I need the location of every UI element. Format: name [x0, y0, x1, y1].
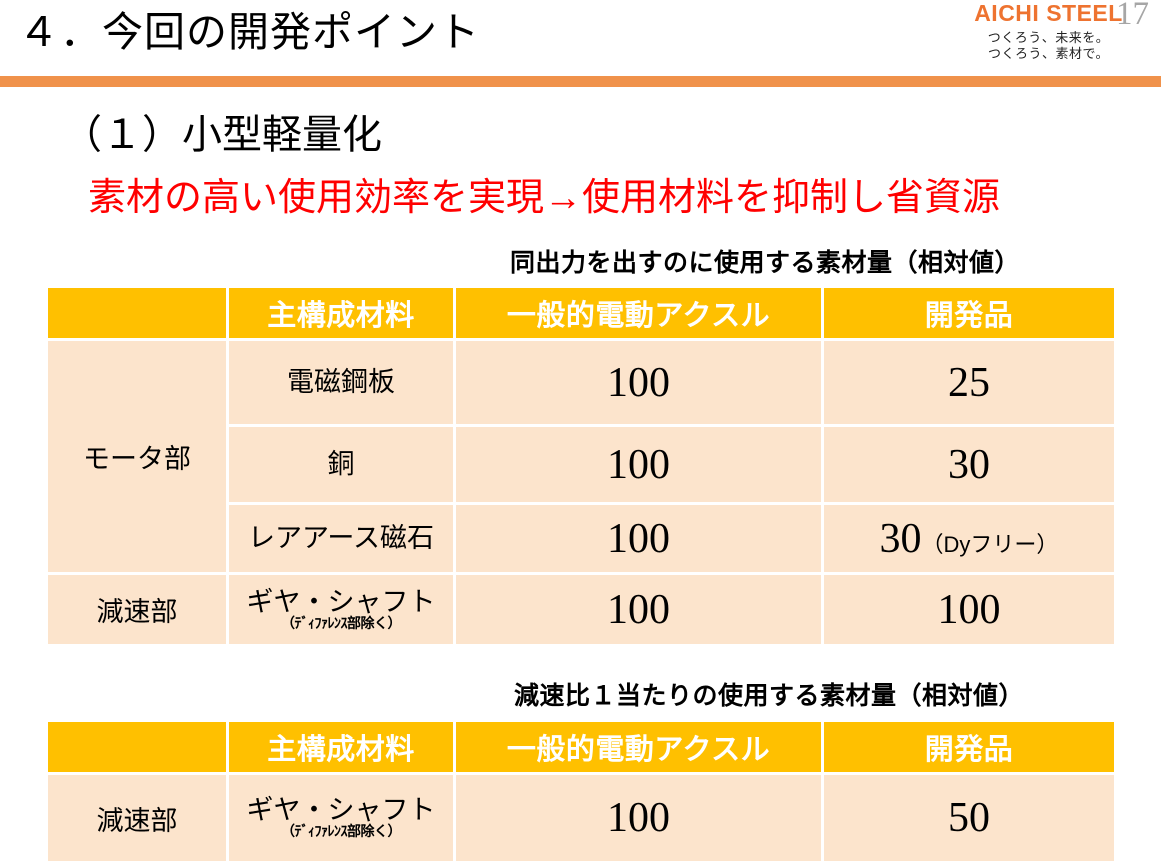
cell-developed-value: 25: [824, 341, 1114, 424]
cell-material-name: ギヤ・シャフト （ﾃﾞｨﾌｧﾚﾝｽ部除く）: [229, 575, 453, 644]
table-header-row: 主構成材料 一般的電動アクスル 開発品: [48, 722, 1114, 772]
cell-conventional-value: 100: [456, 341, 821, 424]
material-label: 銅: [328, 449, 355, 479]
logo-tagline: つくろう、未来を。 つくろう、素材で。: [946, 30, 1151, 63]
cell-part-name: 減速部: [48, 775, 226, 861]
cell-material-name: レアアース磁石: [229, 505, 453, 572]
cell-material-name: 電磁鋼板: [229, 341, 453, 424]
aichi-steel-logo: AICHI STEEL 17 つくろう、未来を。 つくろう、素材で。: [946, 2, 1151, 74]
section-heading: （１）小型軽量化: [62, 110, 382, 160]
cell-developed-value: 30: [824, 427, 1114, 502]
column-header-developed: 開発品: [824, 288, 1114, 338]
developed-value: 50: [948, 795, 990, 841]
material-label: ギヤ・シャフト: [247, 587, 436, 617]
cell-part-name: 減速部: [48, 575, 226, 644]
page-number: 17: [1116, 0, 1149, 31]
column-header-blank: [48, 288, 226, 338]
column-header-conventional: 一般的電動アクスル: [456, 722, 821, 772]
developed-value: 100: [938, 587, 1001, 633]
table-caption-2: 減速比１当たりの使用する素材量（相対値）: [514, 676, 1024, 712]
title-divider-rule: [0, 76, 1161, 87]
table-row: モータ部 電磁鋼板 100 25: [48, 341, 1114, 424]
cell-material-name: 銅: [229, 427, 453, 502]
material-usage-table-2: 主構成材料 一般的電動アクスル 開発品 減速部 ギヤ・シャフト （ﾃﾞｨﾌｧﾚﾝ…: [45, 719, 1117, 864]
cell-conventional-value: 100: [456, 575, 821, 644]
logo-tagline-line1: つくろう、未来を。: [946, 30, 1151, 46]
section-subtext: 素材の高い使用効率を実現→使用材料を抑制し省資源: [88, 175, 1000, 223]
column-header-material: 主構成材料: [229, 288, 453, 338]
material-usage-table-1: 主構成材料 一般的電動アクスル 開発品 モータ部 電磁鋼板 100 25 銅 1…: [45, 285, 1117, 647]
column-header-conventional: 一般的電動アクスル: [456, 288, 821, 338]
developed-value: 25: [948, 360, 990, 406]
cell-material-name: ギヤ・シャフト （ﾃﾞｨﾌｧﾚﾝｽ部除く）: [229, 775, 453, 861]
cell-developed-value: 30（Dyフリー）: [824, 505, 1114, 572]
developed-value: 30: [880, 516, 922, 562]
column-header-blank: [48, 722, 226, 772]
page-title: ４．今回の開発ポイント: [18, 6, 480, 59]
table-row: 減速部 ギヤ・シャフト （ﾃﾞｨﾌｧﾚﾝｽ部除く） 100 100: [48, 575, 1114, 644]
cell-part-name: モータ部: [48, 341, 226, 572]
material-label: ギヤ・シャフト: [247, 795, 436, 825]
material-label: レアアース磁石: [248, 523, 434, 553]
column-header-material: 主構成材料: [229, 722, 453, 772]
logo-wordmark: AICHI STEEL: [974, 2, 1123, 25]
cell-conventional-value: 100: [456, 427, 821, 502]
cell-conventional-value: 100: [456, 505, 821, 572]
material-note: （ﾃﾞｨﾌｧﾚﾝｽ部除く）: [229, 824, 453, 839]
table-header-row: 主構成材料 一般的電動アクスル 開発品: [48, 288, 1114, 338]
cell-developed-value: 100: [824, 575, 1114, 644]
table-row: 減速部 ギヤ・シャフト （ﾃﾞｨﾌｧﾚﾝｽ部除く） 100 50: [48, 775, 1114, 861]
column-header-developed: 開発品: [824, 722, 1114, 772]
logo-tagline-line2: つくろう、素材で。: [946, 46, 1151, 62]
cell-developed-value: 50: [824, 775, 1114, 861]
material-label: 電磁鋼板: [287, 367, 395, 397]
developed-value-note: （Dyフリー）: [922, 532, 1059, 557]
table-caption-1: 同出力を出すのに使用する素材量（相対値）: [510, 243, 1020, 279]
material-note: （ﾃﾞｨﾌｧﾚﾝｽ部除く）: [229, 616, 453, 631]
developed-value: 30: [948, 442, 990, 488]
cell-conventional-value: 100: [456, 775, 821, 861]
